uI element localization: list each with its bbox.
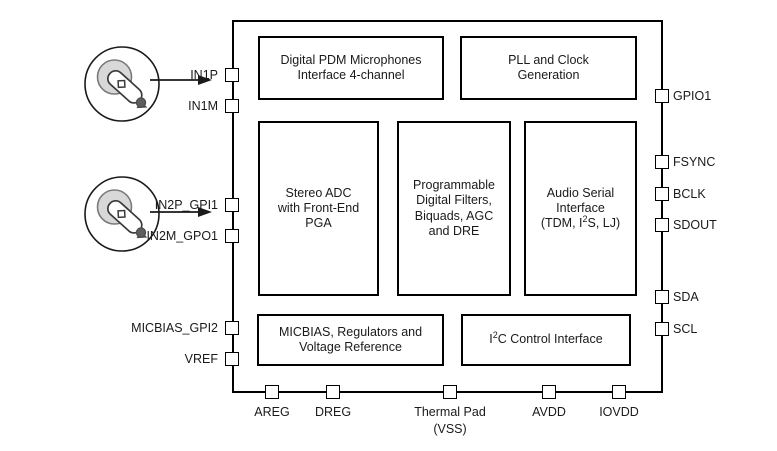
block-micbias-regulators-voltage-reference[interactable]: MICBIAS, Regulators and Voltage Referenc… — [257, 314, 444, 366]
pin-pad-iovdd[interactable] — [612, 385, 626, 399]
block-diagram-canvas: Digital PDM Microphones Interface 4-chan… — [0, 0, 777, 451]
pin-label-thermal-pad-vss: (VSS) — [400, 423, 500, 436]
pin-label-iovdd: IOVDD — [575, 406, 663, 419]
pin-pad-dreg[interactable] — [326, 385, 340, 399]
pin-label-sdout: SDOUT — [673, 219, 717, 232]
pin-pad-avdd[interactable] — [542, 385, 556, 399]
block-label-line: and DRE — [413, 224, 495, 239]
pin-label-dreg: DREG — [293, 406, 373, 419]
block-label-line: Programmable — [413, 178, 495, 193]
block-label-line: MICBIAS, Regulators and — [279, 325, 422, 340]
pin-pad-thermal-pad[interactable] — [443, 385, 457, 399]
pin-pad-in1m[interactable] — [225, 99, 239, 113]
block-stereo-adc-front-end-pga[interactable]: Stereo ADC with Front-End PGA — [258, 121, 379, 296]
pin-label-fsync: FSYNC — [673, 156, 715, 169]
pin-label-in2p-gpi1: IN2P_GPI1 — [88, 199, 218, 212]
block-label-line: PLL and Clock — [508, 53, 589, 68]
block-digital-pdm-microphones-interface[interactable]: Digital PDM Microphones Interface 4-chan… — [258, 36, 444, 100]
pin-label-sda: SDA — [673, 291, 699, 304]
block-programmable-digital-filters[interactable]: Programmable Digital Filters, Biquads, A… — [397, 121, 511, 296]
pin-label-vref: VREF — [94, 353, 218, 366]
block-label-line: Voltage Reference — [279, 340, 422, 355]
block-i2c-control-interface[interactable]: I2C Control Interface — [461, 314, 631, 366]
block-audio-serial-interface[interactable]: Audio Serial Interface (TDM, I2S, LJ) — [524, 121, 637, 296]
pin-pad-scl[interactable] — [655, 322, 669, 336]
pin-label-micbias-gpi2: MICBIAS_GPI2 — [94, 322, 218, 335]
block-label-line: Digital PDM Microphones — [280, 53, 421, 68]
block-label-line: Stereo ADC — [278, 186, 359, 201]
pin-pad-bclk[interactable] — [655, 187, 669, 201]
pin-label-thermal-pad: Thermal Pad — [400, 406, 500, 419]
block-label-line: Generation — [508, 68, 589, 83]
pin-pad-in2m-gpo1[interactable] — [225, 229, 239, 243]
pin-pad-in2p-gpi1[interactable] — [225, 198, 239, 212]
pin-label-bclk: BCLK — [673, 188, 706, 201]
pin-label-gpio1: GPIO1 — [673, 90, 711, 103]
pin-pad-vref[interactable] — [225, 352, 239, 366]
block-label-line: Digital Filters, — [413, 193, 495, 208]
block-pll-and-clock-generation[interactable]: PLL and Clock Generation — [460, 36, 637, 100]
pin-label-scl: SCL — [673, 323, 697, 336]
block-label-line-superscripted: (TDM, I2S, LJ) — [541, 216, 620, 231]
block-label-line-superscripted: I2C Control Interface — [489, 332, 602, 347]
pin-pad-in1p[interactable] — [225, 68, 239, 82]
pin-pad-sda[interactable] — [655, 290, 669, 304]
block-label-line: Interface 4-channel — [280, 68, 421, 83]
block-label-line: with Front-End — [278, 201, 359, 216]
pin-label-in1m: IN1M — [110, 100, 218, 113]
block-label-line: Biquads, AGC — [413, 209, 495, 224]
pin-pad-areg[interactable] — [265, 385, 279, 399]
pin-pad-micbias-gpi2[interactable] — [225, 321, 239, 335]
pin-label-in2m-gpo1: IN2M_GPO1 — [88, 230, 218, 243]
pin-pad-gpio1[interactable] — [655, 89, 669, 103]
pin-pad-fsync[interactable] — [655, 155, 669, 169]
pin-pad-sdout[interactable] — [655, 218, 669, 232]
block-label-line: Interface — [541, 201, 620, 216]
block-label-line: PGA — [278, 216, 359, 231]
pin-label-in1p: IN1P — [110, 69, 218, 82]
block-label-line: Audio Serial — [541, 186, 620, 201]
